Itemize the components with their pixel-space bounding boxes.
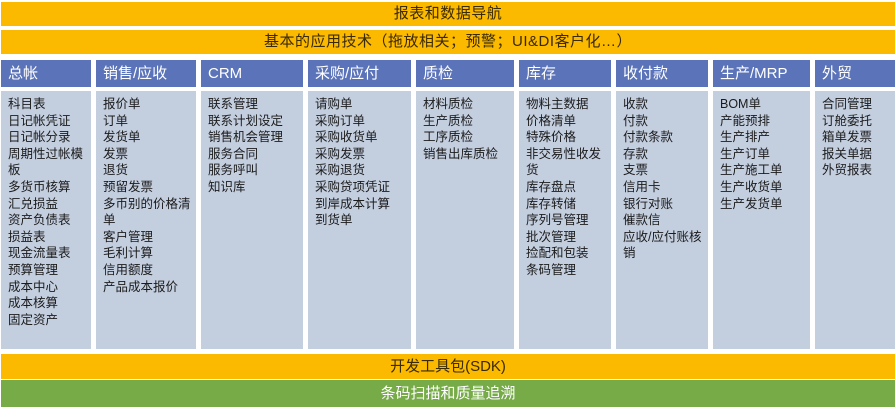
list-item[interactable]: 箱单发票 bbox=[822, 129, 892, 146]
list-item[interactable]: 采购贷项凭证 bbox=[315, 179, 408, 196]
list-item[interactable]: 成本中心 bbox=[8, 279, 88, 296]
list-item[interactable]: 付款条款 bbox=[623, 129, 705, 146]
list-item[interactable]: 退货 bbox=[103, 162, 193, 179]
list-item[interactable]: 报关单据 bbox=[822, 146, 892, 163]
list-item[interactable]: 订单 bbox=[103, 113, 193, 130]
column-production-mrp[interactable]: 生产/MRP BOM单 产能预排 生产排产 生产订单 生产施工单 生产收货单 生… bbox=[713, 60, 810, 349]
column-body-payments: 收款 付款 付款条款 存款 支票 信用卡 银行对账 催款信 应收/应付账核销 bbox=[616, 91, 708, 349]
list-item[interactable]: 特殊价格 bbox=[526, 129, 608, 146]
list-item[interactable]: 催款信 bbox=[623, 212, 705, 229]
list-item[interactable]: 存款 bbox=[623, 146, 705, 163]
list-item[interactable]: 付款 bbox=[623, 113, 705, 130]
list-item[interactable]: 捡配和包装 bbox=[526, 245, 608, 262]
list-item[interactable]: 联系计划设定 bbox=[208, 113, 300, 130]
column-body-production-mrp: BOM单 产能预排 生产排产 生产订单 生产施工单 生产收货单 生产发货单 bbox=[713, 91, 810, 349]
list-item[interactable]: 发货单 bbox=[103, 129, 193, 146]
list-item[interactable]: 采购订单 bbox=[315, 113, 408, 130]
list-item[interactable]: 外贸报表 bbox=[822, 162, 892, 179]
list-item[interactable]: 固定资产 bbox=[8, 312, 88, 329]
list-item[interactable]: 物料主数据 bbox=[526, 96, 608, 113]
list-item[interactable]: 科目表 bbox=[8, 96, 88, 113]
list-item[interactable]: 价格清单 bbox=[526, 113, 608, 130]
list-item[interactable]: 汇兑损益 bbox=[8, 196, 88, 213]
list-item[interactable]: 生产质检 bbox=[423, 113, 511, 130]
column-header-quality-inspection[interactable]: 质检 bbox=[416, 60, 514, 87]
column-foreign-trade[interactable]: 外贸 合同管理 订舱委托 箱单发票 报关单据 外贸报表 bbox=[815, 60, 895, 349]
list-item[interactable]: 服务合同 bbox=[208, 146, 300, 163]
banner-reports-navigation: 报表和数据导航 bbox=[1, 2, 895, 26]
list-item[interactable]: 采购退货 bbox=[315, 162, 408, 179]
list-item[interactable]: 采购发票 bbox=[315, 146, 408, 163]
list-item[interactable]: 到货单 bbox=[315, 212, 408, 229]
list-item[interactable]: 多货币核算 bbox=[8, 179, 88, 196]
column-body-sales-ar: 报价单 订单 发货单 发票 退货 预留发票 多币别的价格清单 客户管理 毛利计算… bbox=[96, 91, 196, 349]
list-item[interactable]: 客户管理 bbox=[103, 229, 193, 246]
list-item[interactable]: 损益表 bbox=[8, 229, 88, 246]
list-item[interactable]: 工序质检 bbox=[423, 129, 511, 146]
list-item[interactable]: 预算管理 bbox=[8, 262, 88, 279]
column-header-crm[interactable]: CRM bbox=[201, 60, 303, 87]
list-item[interactable]: 信用额度 bbox=[103, 262, 193, 279]
list-item[interactable]: 收款 bbox=[623, 96, 705, 113]
column-crm[interactable]: CRM 联系管理 联系计划设定 销售机会管理 服务合同 服务呼叫 知识库 bbox=[201, 60, 303, 349]
list-item[interactable]: 请购单 bbox=[315, 96, 408, 113]
list-item[interactable]: 信用卡 bbox=[623, 179, 705, 196]
column-body-general-ledger: 科目表 日记帐凭证 日记帐分录 周期性过帐模板 多货币核算 汇兑损益 资产负债表… bbox=[1, 91, 91, 349]
list-item[interactable]: BOM单 bbox=[720, 96, 807, 113]
list-item[interactable]: 订舱委托 bbox=[822, 113, 892, 130]
list-item[interactable]: 生产施工单 bbox=[720, 162, 807, 179]
banner-base-app-technology: 基本的应用技术（拖放相关；预警；UI&DI客户化…） bbox=[1, 30, 895, 54]
module-map-diagram: 报表和数据导航 基本的应用技术（拖放相关；预警；UI&DI客户化…） 总帐 科目… bbox=[0, 0, 896, 409]
list-item[interactable]: 条码管理 bbox=[526, 262, 608, 279]
list-item[interactable]: 采购收货单 bbox=[315, 129, 408, 146]
list-item[interactable]: 资产负债表 bbox=[8, 212, 88, 229]
list-item[interactable]: 合同管理 bbox=[822, 96, 892, 113]
list-item[interactable]: 多币别的价格清单 bbox=[103, 196, 193, 229]
column-header-inventory[interactable]: 库存 bbox=[519, 60, 611, 87]
banner-barcode-quality-trace: 条码扫描和质量追溯 bbox=[1, 380, 895, 407]
list-item[interactable]: 到岸成本计算 bbox=[315, 196, 408, 213]
list-item[interactable]: 周期性过帐模板 bbox=[8, 146, 88, 179]
list-item[interactable]: 应收/应付账核销 bbox=[623, 229, 705, 262]
list-item[interactable]: 预留发票 bbox=[103, 179, 193, 196]
list-item[interactable]: 库存转储 bbox=[526, 196, 608, 213]
list-item[interactable]: 生产排产 bbox=[720, 129, 807, 146]
list-item[interactable]: 销售出库质检 bbox=[423, 146, 511, 163]
column-body-inventory: 物料主数据 价格清单 特殊价格 非交易性收发货 库存盘点 库存转储 序列号管理 … bbox=[519, 91, 611, 349]
column-payments[interactable]: 收付款 收款 付款 付款条款 存款 支票 信用卡 银行对账 催款信 应收/应付账… bbox=[616, 60, 708, 349]
list-item[interactable]: 产能预排 bbox=[720, 113, 807, 130]
module-columns: 总帐 科目表 日记帐凭证 日记帐分录 周期性过帐模板 多货币核算 汇兑损益 资产… bbox=[1, 60, 895, 349]
list-item[interactable]: 成本核算 bbox=[8, 295, 88, 312]
list-item[interactable]: 库存盘点 bbox=[526, 179, 608, 196]
list-item[interactable]: 生产订单 bbox=[720, 146, 807, 163]
list-item[interactable]: 报价单 bbox=[103, 96, 193, 113]
list-item[interactable]: 生产发货单 bbox=[720, 196, 807, 213]
list-item[interactable]: 材料质检 bbox=[423, 96, 511, 113]
list-item[interactable]: 服务呼叫 bbox=[208, 162, 300, 179]
column-inventory[interactable]: 库存 物料主数据 价格清单 特殊价格 非交易性收发货 库存盘点 库存转储 序列号… bbox=[519, 60, 611, 349]
column-body-quality-inspection: 材料质检 生产质检 工序质检 销售出库质检 bbox=[416, 91, 514, 349]
list-item[interactable]: 现金流量表 bbox=[8, 245, 88, 262]
list-item[interactable]: 日记帐凭证 bbox=[8, 113, 88, 130]
list-item[interactable]: 知识库 bbox=[208, 179, 300, 196]
column-header-general-ledger[interactable]: 总帐 bbox=[1, 60, 91, 87]
banner-development-sdk: 开发工具包(SDK) bbox=[1, 354, 895, 379]
list-item[interactable]: 序列号管理 bbox=[526, 212, 608, 229]
column-body-crm: 联系管理 联系计划设定 销售机会管理 服务合同 服务呼叫 知识库 bbox=[201, 91, 303, 349]
list-item[interactable]: 非交易性收发货 bbox=[526, 146, 608, 179]
list-item[interactable]: 日记帐分录 bbox=[8, 129, 88, 146]
column-header-foreign-trade[interactable]: 外贸 bbox=[815, 60, 895, 87]
list-item[interactable]: 发票 bbox=[103, 146, 193, 163]
list-item[interactable]: 销售机会管理 bbox=[208, 129, 300, 146]
list-item[interactable]: 毛利计算 bbox=[103, 245, 193, 262]
column-quality-inspection[interactable]: 质检 材料质检 生产质检 工序质检 销售出库质检 bbox=[416, 60, 514, 349]
column-purchasing-ap[interactable]: 采购/应付 请购单 采购订单 采购收货单 采购发票 采购退货 采购贷项凭证 到岸… bbox=[308, 60, 411, 349]
list-item[interactable]: 批次管理 bbox=[526, 229, 608, 246]
column-sales-ar[interactable]: 销售/应收 报价单 订单 发货单 发票 退货 预留发票 多币别的价格清单 客户管… bbox=[96, 60, 196, 349]
list-item[interactable]: 支票 bbox=[623, 162, 705, 179]
list-item[interactable]: 银行对账 bbox=[623, 196, 705, 213]
list-item[interactable]: 联系管理 bbox=[208, 96, 300, 113]
column-header-payments[interactable]: 收付款 bbox=[616, 60, 708, 87]
list-item[interactable]: 生产收货单 bbox=[720, 179, 807, 196]
list-item[interactable]: 产品成本报价 bbox=[103, 279, 193, 296]
column-body-purchasing-ap: 请购单 采购订单 采购收货单 采购发票 采购退货 采购贷项凭证 到岸成本计算 到… bbox=[308, 91, 411, 349]
column-header-sales-ar[interactable]: 销售/应收 bbox=[96, 60, 196, 87]
column-header-production-mrp[interactable]: 生产/MRP bbox=[713, 60, 810, 87]
column-body-foreign-trade: 合同管理 订舱委托 箱单发票 报关单据 外贸报表 bbox=[815, 91, 895, 349]
column-header-purchasing-ap[interactable]: 采购/应付 bbox=[308, 60, 411, 87]
column-general-ledger[interactable]: 总帐 科目表 日记帐凭证 日记帐分录 周期性过帐模板 多货币核算 汇兑损益 资产… bbox=[1, 60, 91, 349]
